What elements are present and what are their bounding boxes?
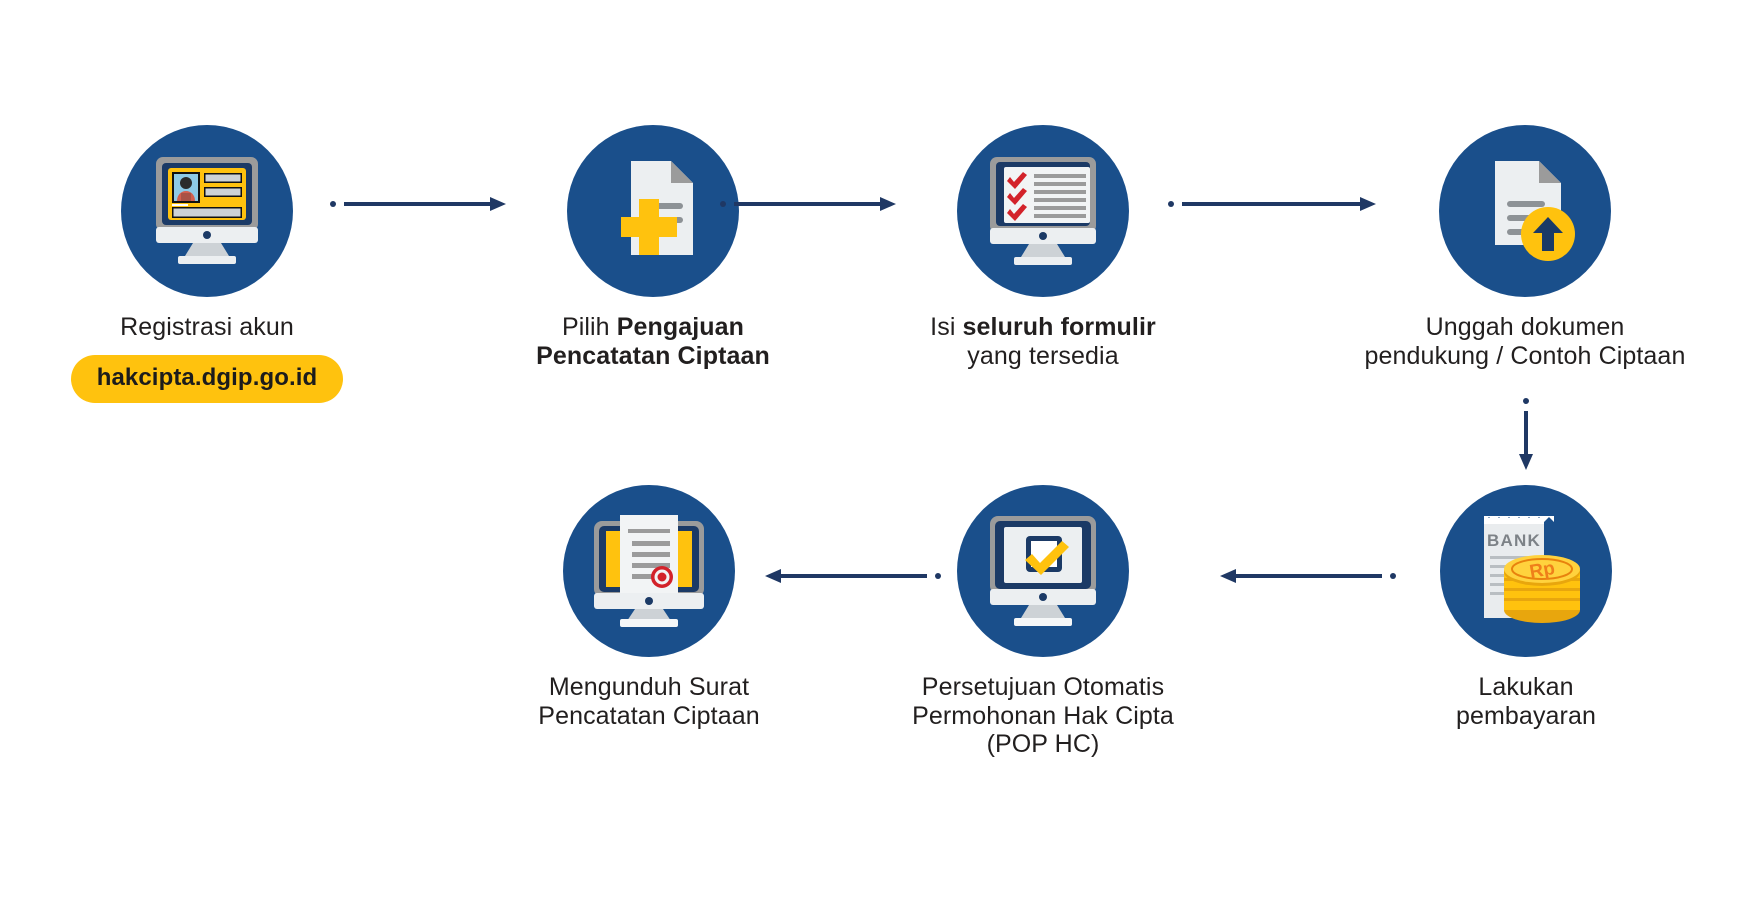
step-mengunduh-surat: Mengunduh SuratPencatatan Ciptaan [469, 485, 829, 730]
document-plus-icon [567, 125, 739, 297]
document-upload-icon [1439, 125, 1611, 297]
step-pilih-pengajuan: Pilih PengajuanPencatatan Ciptaan [473, 125, 833, 370]
arrow-5-to-6 [1220, 568, 1396, 584]
step-caption: Persetujuan OtomatisPermohonan Hak Cipta… [912, 673, 1174, 759]
step-registrasi-akun: Registrasi akun hakcipta.dgip.go.id [27, 125, 387, 403]
url-badge[interactable]: hakcipta.dgip.go.id [71, 355, 344, 403]
step-caption: Registrasi akun [120, 313, 294, 342]
monitor-checklist-icon [957, 125, 1129, 297]
step-caption: Lakukanpembayaran [1456, 673, 1596, 730]
step-persetujuan-otomatis: Persetujuan OtomatisPermohonan Hak Cipta… [863, 485, 1223, 759]
step-caption: Pilih PengajuanPencatatan Ciptaan [536, 313, 770, 370]
process-flow-diagram: Registrasi akun hakcipta.dgip.go.id Pili… [0, 0, 1755, 904]
monitor-checkbox-icon [957, 485, 1129, 657]
step-lakukan-pembayaran: BANK [1346, 485, 1706, 730]
step-caption: Unggah dokumenpendukung / Contoh Ciptaan [1365, 313, 1686, 370]
bank-receipt-coins-icon: BANK [1440, 485, 1612, 657]
step-caption: Mengunduh SuratPencatatan Ciptaan [538, 673, 759, 730]
arrow-4-to-5 [1518, 398, 1534, 470]
step-caption: Isi seluruh formuliryang tersedia [930, 313, 1156, 370]
bank-label: BANK [1487, 531, 1541, 550]
monitor-certificate-icon [563, 485, 735, 657]
monitor-id-card-icon [121, 125, 293, 297]
step-isi-formulir: Isi seluruh formuliryang tersedia [863, 125, 1223, 370]
coin-currency-label: Rp [1528, 558, 1557, 583]
step-unggah-dokumen: Unggah dokumenpendukung / Contoh Ciptaan [1345, 125, 1705, 370]
